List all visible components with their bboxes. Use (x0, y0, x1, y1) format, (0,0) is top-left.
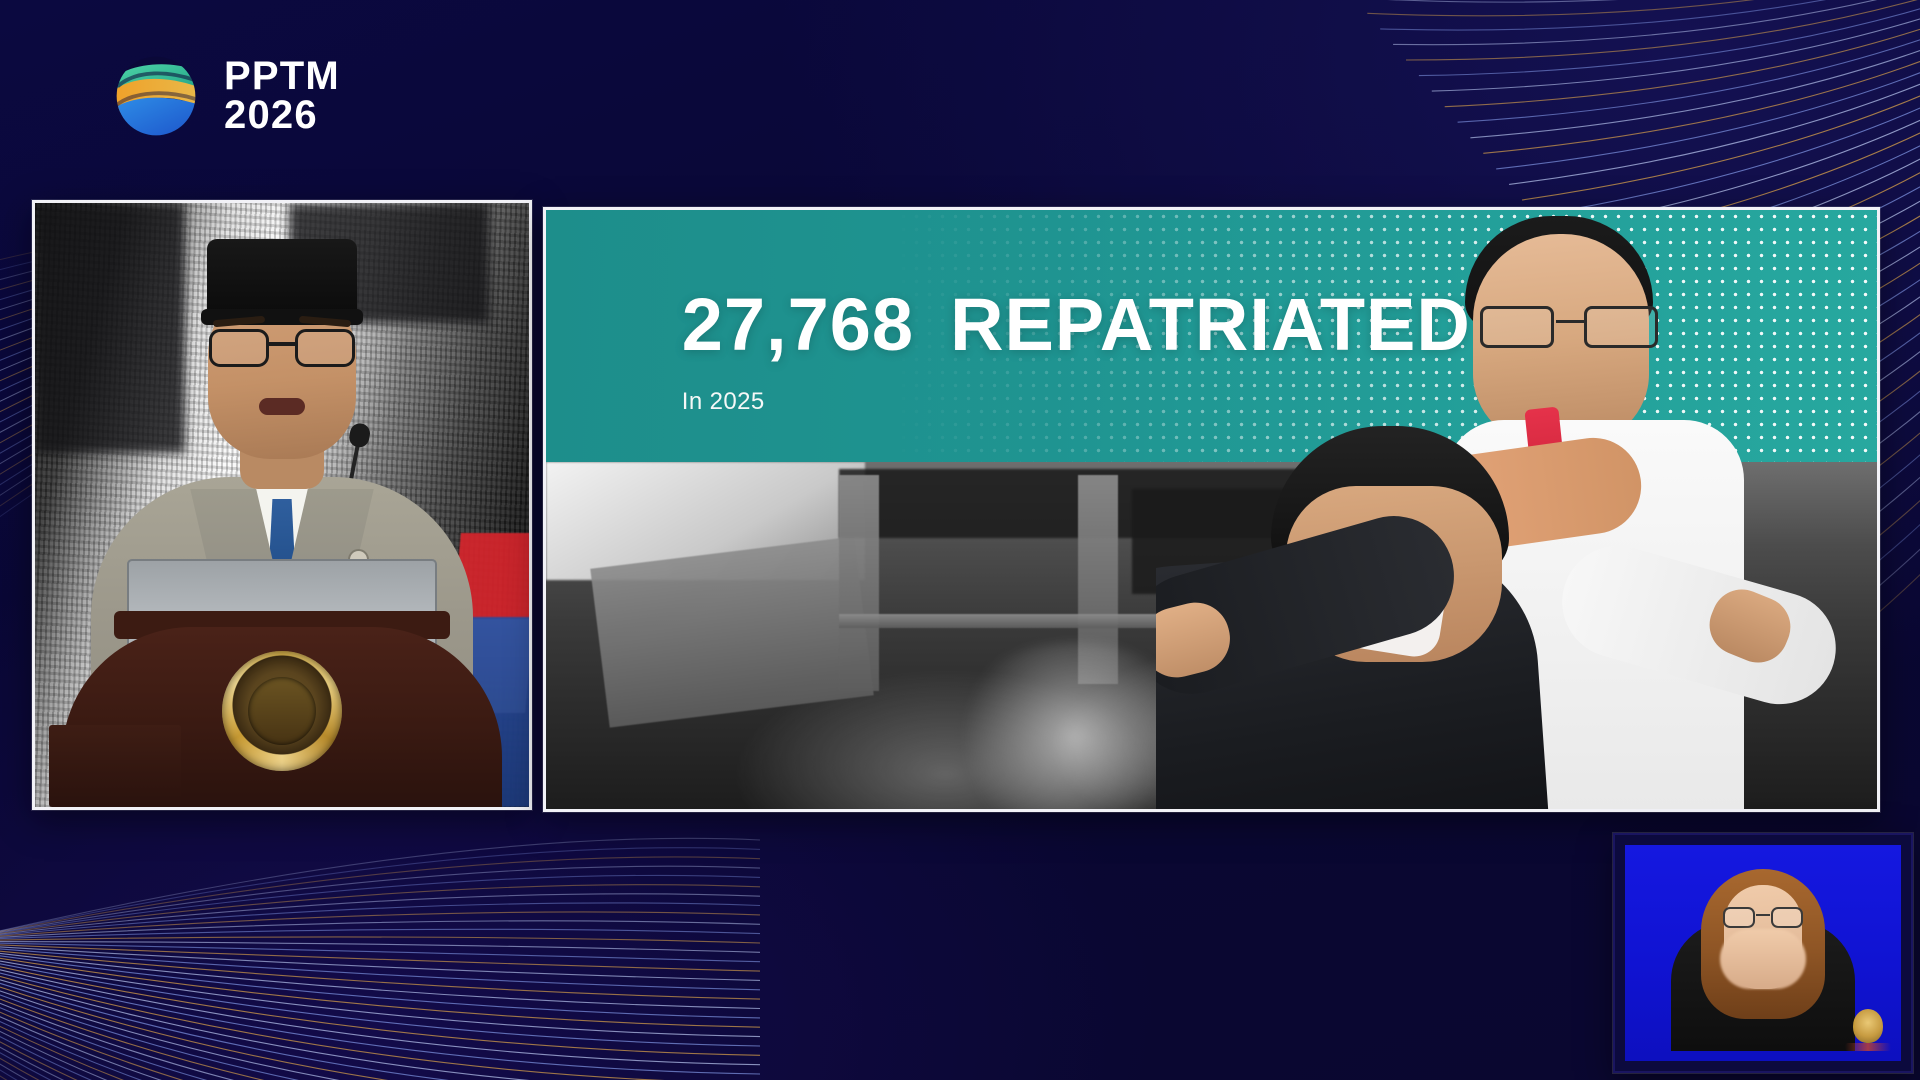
interpreter-chroma-background (1625, 845, 1901, 1061)
sign-language-interpreter-feed (1613, 833, 1913, 1073)
peci-hat (207, 239, 357, 319)
slide-canvas: 27,768REPATRIATED In 2025 (546, 210, 1877, 809)
backdrop-shadow-left (35, 203, 185, 453)
speaker-video-feed (32, 200, 532, 810)
brand-title-line1: PPTM (224, 57, 340, 96)
interpreter-eyeglasses-icon (1723, 907, 1803, 929)
presentation-slide: 27,768REPATRIATED In 2025 (543, 207, 1880, 812)
rubble-slab (590, 536, 874, 727)
brand-logo-block: PPTM 2026 (108, 48, 340, 144)
gold-state-crest-icon (222, 651, 342, 771)
slide-headline-number: 27,768 (682, 283, 914, 366)
gold-crest-watermark-icon (1853, 1009, 1883, 1043)
two-men-embracing-photo (1156, 210, 1875, 809)
brand-logo-text: PPTM 2026 (224, 57, 340, 135)
podium-step (49, 725, 181, 807)
eyeglasses-icon (207, 329, 357, 369)
watermark-caption (1845, 1043, 1891, 1051)
globe-swoosh-icon (108, 48, 204, 144)
speaker-scene (35, 203, 529, 807)
rubble-column (839, 475, 879, 690)
broadcast-stage: PPTM 2026 (0, 0, 1920, 1080)
interpreter-signing-hands (1720, 929, 1806, 989)
back-man-eyeglasses-icon (1480, 306, 1658, 350)
speaker-mouth (259, 398, 305, 415)
brand-title-line2: 2026 (224, 96, 340, 135)
